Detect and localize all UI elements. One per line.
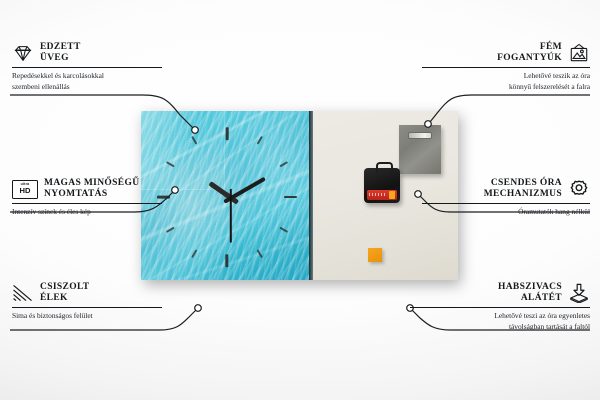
clock-tick bbox=[257, 249, 263, 258]
callout-divider bbox=[12, 67, 162, 68]
clock-tick bbox=[226, 254, 229, 267]
clock-tick bbox=[191, 135, 197, 144]
product-image bbox=[141, 111, 458, 280]
callout-title-line: MECHANIZMUS bbox=[484, 189, 562, 200]
hanger-slot bbox=[408, 132, 432, 139]
callout-foam-backing[interactable]: HABSZIVACS ALÁTÉT Lehetővé teszi az óra … bbox=[410, 282, 590, 333]
callout-polished-edges[interactable]: CSISZOLT ÉLEK Sima és biztonságos felüle… bbox=[12, 282, 162, 322]
callout-title-line: ALÁTÉT bbox=[521, 293, 562, 304]
diamond-icon bbox=[12, 43, 34, 63]
callout-title-line: NYOMTATÁS bbox=[44, 189, 139, 200]
ultra-hd-icon: ultra HD bbox=[12, 180, 38, 199]
foam-pad-icon bbox=[568, 283, 590, 303]
gear-icon bbox=[568, 179, 590, 199]
clock-tick bbox=[166, 161, 175, 167]
callout-desc-line: Lehetővé teszi az óra egyenletes bbox=[410, 311, 590, 322]
callout-title-line: CSENDES ÓRA bbox=[491, 178, 562, 189]
connector-node bbox=[195, 305, 202, 312]
picture-frame-icon bbox=[568, 43, 590, 63]
callout-divider bbox=[422, 203, 590, 204]
polished-edge-icon bbox=[12, 283, 34, 303]
clock-tick bbox=[191, 249, 197, 258]
callout-desc-line: szembeni ellenállás bbox=[12, 82, 162, 93]
battery-label bbox=[369, 193, 387, 196]
callout-desc-line: Intenzív színek és éles kép bbox=[12, 207, 162, 218]
callout-title-line: FÉM bbox=[540, 42, 562, 53]
clock-tick bbox=[257, 135, 263, 144]
callout-high-quality-print[interactable]: ultra HD MAGAS MINŐSÉGŰ NYOMTATÁS Intenz… bbox=[12, 178, 162, 218]
callout-title-line: ÜVEG bbox=[40, 53, 81, 64]
callout-tempered-glass[interactable]: EDZETT ÜVEG Repedésekkel és karcolásokka… bbox=[12, 42, 162, 93]
clock-tick bbox=[279, 226, 288, 232]
clock-tick bbox=[226, 127, 229, 140]
callout-desc-line: távolságban tartását a faltól bbox=[410, 322, 590, 333]
clock-tick bbox=[166, 226, 175, 232]
ultra-hd-large-text: HD bbox=[20, 187, 31, 195]
callout-desc-line: Óramutatók hang nélkül bbox=[422, 207, 590, 218]
callout-desc-line: Lehetővé teszik az óra bbox=[422, 71, 590, 82]
battery-terminal bbox=[389, 191, 395, 199]
callout-desc-line: Repedésekkel és karcolásokkal bbox=[12, 71, 162, 82]
foam-pad bbox=[368, 248, 382, 262]
callout-title-line: FOGANTYÚK bbox=[497, 53, 562, 64]
callout-title-line: ÉLEK bbox=[40, 293, 89, 304]
clock-face bbox=[141, 111, 313, 280]
clock-front-panel bbox=[141, 111, 313, 280]
callout-metal-hangers[interactable]: FÉM FOGANTYÚK Lehetővé teszik az óra kön… bbox=[422, 42, 590, 93]
callout-title-line: CSISZOLT bbox=[40, 282, 89, 293]
callout-divider bbox=[12, 307, 162, 308]
metal-hanger-plate bbox=[399, 125, 441, 174]
callout-desc-line: Sima és biztonságos felület bbox=[12, 311, 162, 322]
clock-tick bbox=[284, 196, 297, 199]
callout-divider bbox=[422, 67, 590, 68]
battery bbox=[367, 190, 397, 200]
callout-silent-mechanism[interactable]: CSENDES ÓRA MECHANIZMUS Óramutatók hang … bbox=[422, 178, 590, 218]
callout-title-line: MAGAS MINŐSÉGŰ bbox=[44, 178, 139, 189]
clock-tick bbox=[279, 161, 288, 167]
callout-desc-line: könnyű felszerelését a falra bbox=[422, 82, 590, 93]
clock-second-hand bbox=[230, 188, 232, 242]
callout-title-line: HABSZIVACS bbox=[498, 282, 562, 293]
clock-mechanism bbox=[364, 168, 400, 203]
mechanism-loop bbox=[376, 162, 393, 172]
callout-title-line: EDZETT bbox=[40, 42, 81, 53]
callout-divider bbox=[12, 203, 162, 204]
callout-divider bbox=[410, 307, 590, 308]
